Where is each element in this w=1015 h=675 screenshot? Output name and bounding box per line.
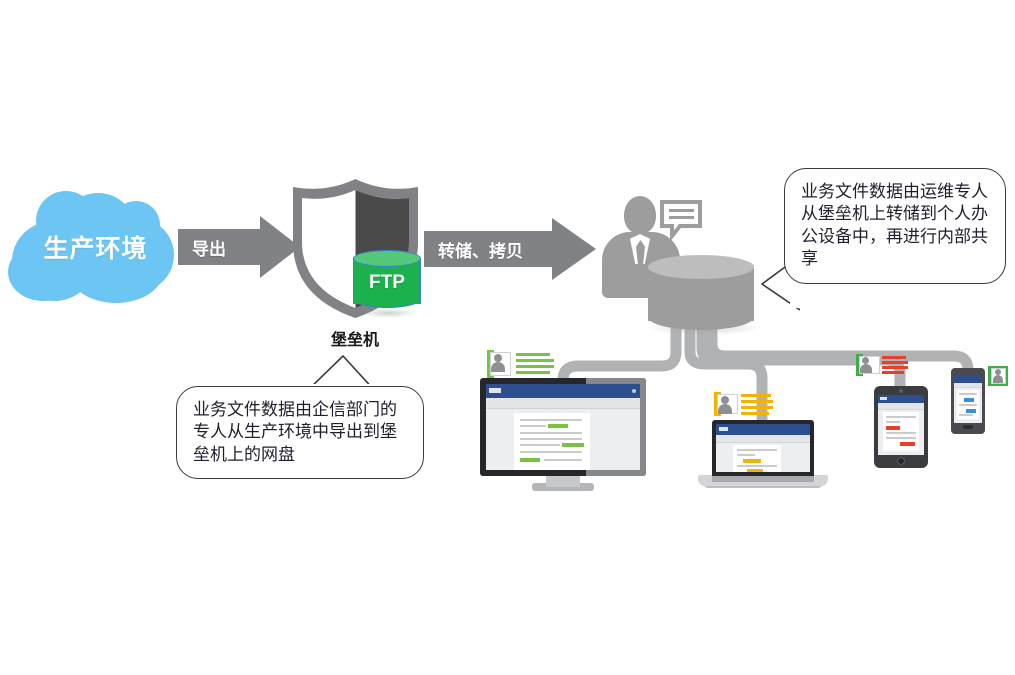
connector-pipes xyxy=(0,0,1015,675)
avatar-head-icon xyxy=(862,357,869,364)
document-page xyxy=(514,413,590,470)
shared-datastore xyxy=(648,255,754,333)
document-page xyxy=(733,445,781,472)
ftp-label: FTP xyxy=(353,272,421,294)
arrow-export: 导出 xyxy=(178,216,300,278)
avatar-body-icon xyxy=(491,362,505,372)
user-card-line xyxy=(516,353,550,356)
user-card-desktop xyxy=(487,350,555,378)
window-toolbar xyxy=(716,435,810,443)
window-titlebar xyxy=(486,384,640,398)
avatar-body-icon xyxy=(993,375,1003,383)
datastore-top xyxy=(648,255,754,279)
diagram-canvas: 生产环境 导出 堡垒机 FTP 转储、拷贝 xyxy=(0,0,1015,675)
laptop[interactable] xyxy=(698,420,828,490)
callout-left: 业务文件数据由企信部门的专人从生产环境中导出到堡垒机上的网盘 xyxy=(176,386,424,479)
laptop-keyboard[interactable] xyxy=(712,475,814,482)
avatar-head-icon xyxy=(494,354,502,362)
speech-bubble-icon xyxy=(660,200,702,240)
user-card-line xyxy=(882,361,908,364)
arrow-transfer-copy: 转储、拷贝 xyxy=(424,218,596,280)
user-card-laptop xyxy=(714,392,774,416)
tablet-screen[interactable] xyxy=(878,395,924,455)
cloud-label: 生产环境 xyxy=(8,229,183,265)
window-toolbar xyxy=(878,403,924,410)
laptop-screen[interactable] xyxy=(716,424,810,472)
window-titlebar xyxy=(954,376,982,383)
phone-home-button[interactable] xyxy=(963,425,973,429)
user-card-phone xyxy=(988,366,1015,386)
window-titlebar xyxy=(878,395,924,403)
user-card-line xyxy=(882,366,908,369)
window-toolbar xyxy=(954,383,982,388)
document-page xyxy=(883,412,919,451)
user-card-line xyxy=(741,412,769,415)
arrow-transfer-label: 转储、拷贝 xyxy=(438,237,523,262)
smartphone[interactable] xyxy=(951,368,985,434)
desktop-monitor[interactable] xyxy=(480,378,646,490)
document-page xyxy=(957,390,979,419)
tablet-home-button[interactable] xyxy=(897,457,905,465)
user-card-line xyxy=(882,356,906,359)
user-card-line xyxy=(882,371,904,374)
ftp-shadow xyxy=(359,308,417,318)
ftp-cylinder-top xyxy=(353,250,421,267)
ftp-datastore: FTP xyxy=(353,250,421,312)
tablet-camera xyxy=(899,389,903,393)
operator-head xyxy=(624,196,656,234)
avatar-body-icon xyxy=(718,404,732,414)
phone-screen[interactable] xyxy=(954,376,982,423)
arrow-transfer-head xyxy=(552,218,596,280)
user-card-line xyxy=(516,359,554,362)
user-card-line xyxy=(516,365,554,368)
user-card-tablet xyxy=(856,354,908,376)
avatar-head-icon xyxy=(721,396,729,404)
production-environment-cloud: 生产环境 xyxy=(8,185,183,305)
user-card-line xyxy=(516,371,550,374)
user-card-line xyxy=(741,394,771,397)
callout-right: 业务文件数据由运维专人从堡垒机上转储到个人办公设备中，再进行内部共享 xyxy=(784,168,1006,284)
tablet[interactable] xyxy=(874,386,928,468)
bastion-host-label: 堡垒机 xyxy=(280,326,430,350)
arrow-export-label: 导出 xyxy=(192,235,226,260)
monitor-screen[interactable] xyxy=(486,384,640,470)
avatar-body-icon xyxy=(860,364,872,373)
user-card-phone-lines xyxy=(988,388,1015,410)
window-toolbar xyxy=(486,398,640,409)
window-titlebar xyxy=(716,424,810,435)
user-card-line xyxy=(741,400,773,403)
user-card-line xyxy=(741,406,773,409)
